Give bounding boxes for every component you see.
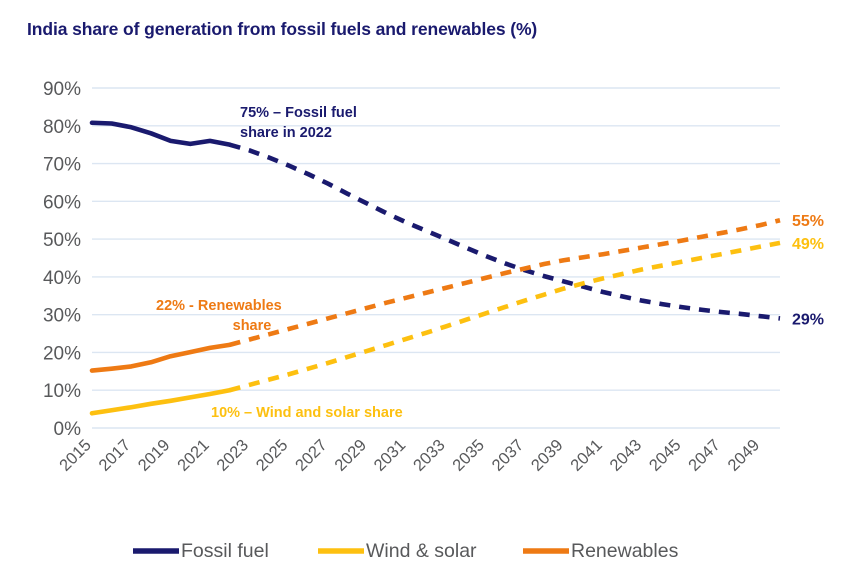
- series-line-historic: [92, 345, 230, 371]
- legend-item-label: Wind & solar: [366, 540, 477, 562]
- x-axis-tick-label: 2049: [724, 436, 763, 475]
- y-axis-tick-label: 0%: [54, 419, 82, 440]
- x-axis-tick-label: 2035: [449, 436, 488, 475]
- series-line-forecast: [230, 145, 780, 319]
- x-axis-tick-label: 2039: [528, 436, 567, 475]
- y-axis-tick-label: 30%: [43, 306, 81, 327]
- series-line-historic: [92, 390, 230, 413]
- end-value-label: 55%: [792, 213, 824, 230]
- annotation-wind-solar-share: 10% – Wind and solar share: [211, 405, 403, 421]
- x-axis-tick-label: 2037: [489, 436, 528, 475]
- chart-container: India share of generation from fossil fu…: [0, 0, 855, 587]
- series-lines-group: [92, 123, 780, 414]
- y-axis-tick-label: 20%: [43, 343, 81, 364]
- x-axis-tick-label: 2017: [95, 436, 134, 475]
- chart-legend: Fossil fuelWind & solarRenewables: [133, 540, 679, 562]
- x-axis-tick-label: 2031: [371, 436, 410, 475]
- legend-item-label: Renewables: [571, 540, 679, 562]
- annotation-renewables-share: 22% - Renewables: [156, 298, 282, 314]
- y-axis-tick-label: 10%: [43, 381, 81, 402]
- x-axis-tick-label: 2023: [213, 436, 252, 475]
- gridlines-group: [92, 88, 780, 428]
- x-axis-tick-label: 2047: [685, 436, 724, 475]
- end-value-label: 49%: [792, 236, 824, 253]
- x-axis-tick-label: 2043: [607, 436, 646, 475]
- x-axis-tick-label: 2015: [56, 436, 95, 475]
- legend-item-label: Fossil fuel: [181, 540, 269, 562]
- x-axis-tick-labels: 2015201720192021202320252027202920312033…: [56, 436, 763, 475]
- annotation-fossil-share: share in 2022: [240, 125, 332, 141]
- y-axis-tick-labels: 0%10%20%30%40%50%60%70%80%90%: [43, 79, 81, 440]
- y-axis-tick-label: 70%: [43, 155, 81, 176]
- annotation-fossil-share: 75% – Fossil fuel: [240, 105, 357, 121]
- x-axis-tick-label: 2027: [292, 436, 331, 475]
- x-axis-tick-label: 2019: [135, 436, 174, 475]
- chart-svg: 0%10%20%30%40%50%60%70%80%90% 2015201720…: [0, 0, 855, 587]
- y-axis-tick-label: 40%: [43, 268, 81, 289]
- x-axis-tick-label: 2041: [567, 436, 606, 475]
- x-axis-tick-label: 2045: [646, 436, 685, 475]
- end-value-label: 29%: [792, 311, 824, 328]
- annotations-group: 75% – Fossil fuelshare in 202222% - Rene…: [156, 105, 403, 421]
- x-axis-tick-label: 2021: [174, 436, 213, 475]
- end-value-labels-group: 29%49%55%: [792, 213, 824, 328]
- x-axis-tick-label: 2025: [253, 436, 292, 475]
- annotation-renewables-share: share: [233, 318, 272, 334]
- x-axis-tick-label: 2033: [410, 436, 449, 475]
- x-axis-tick-label: 2029: [331, 436, 370, 475]
- y-axis-tick-label: 60%: [43, 192, 81, 213]
- y-axis-tick-label: 50%: [43, 230, 81, 251]
- y-axis-tick-label: 90%: [43, 79, 81, 100]
- y-axis-tick-label: 80%: [43, 117, 81, 138]
